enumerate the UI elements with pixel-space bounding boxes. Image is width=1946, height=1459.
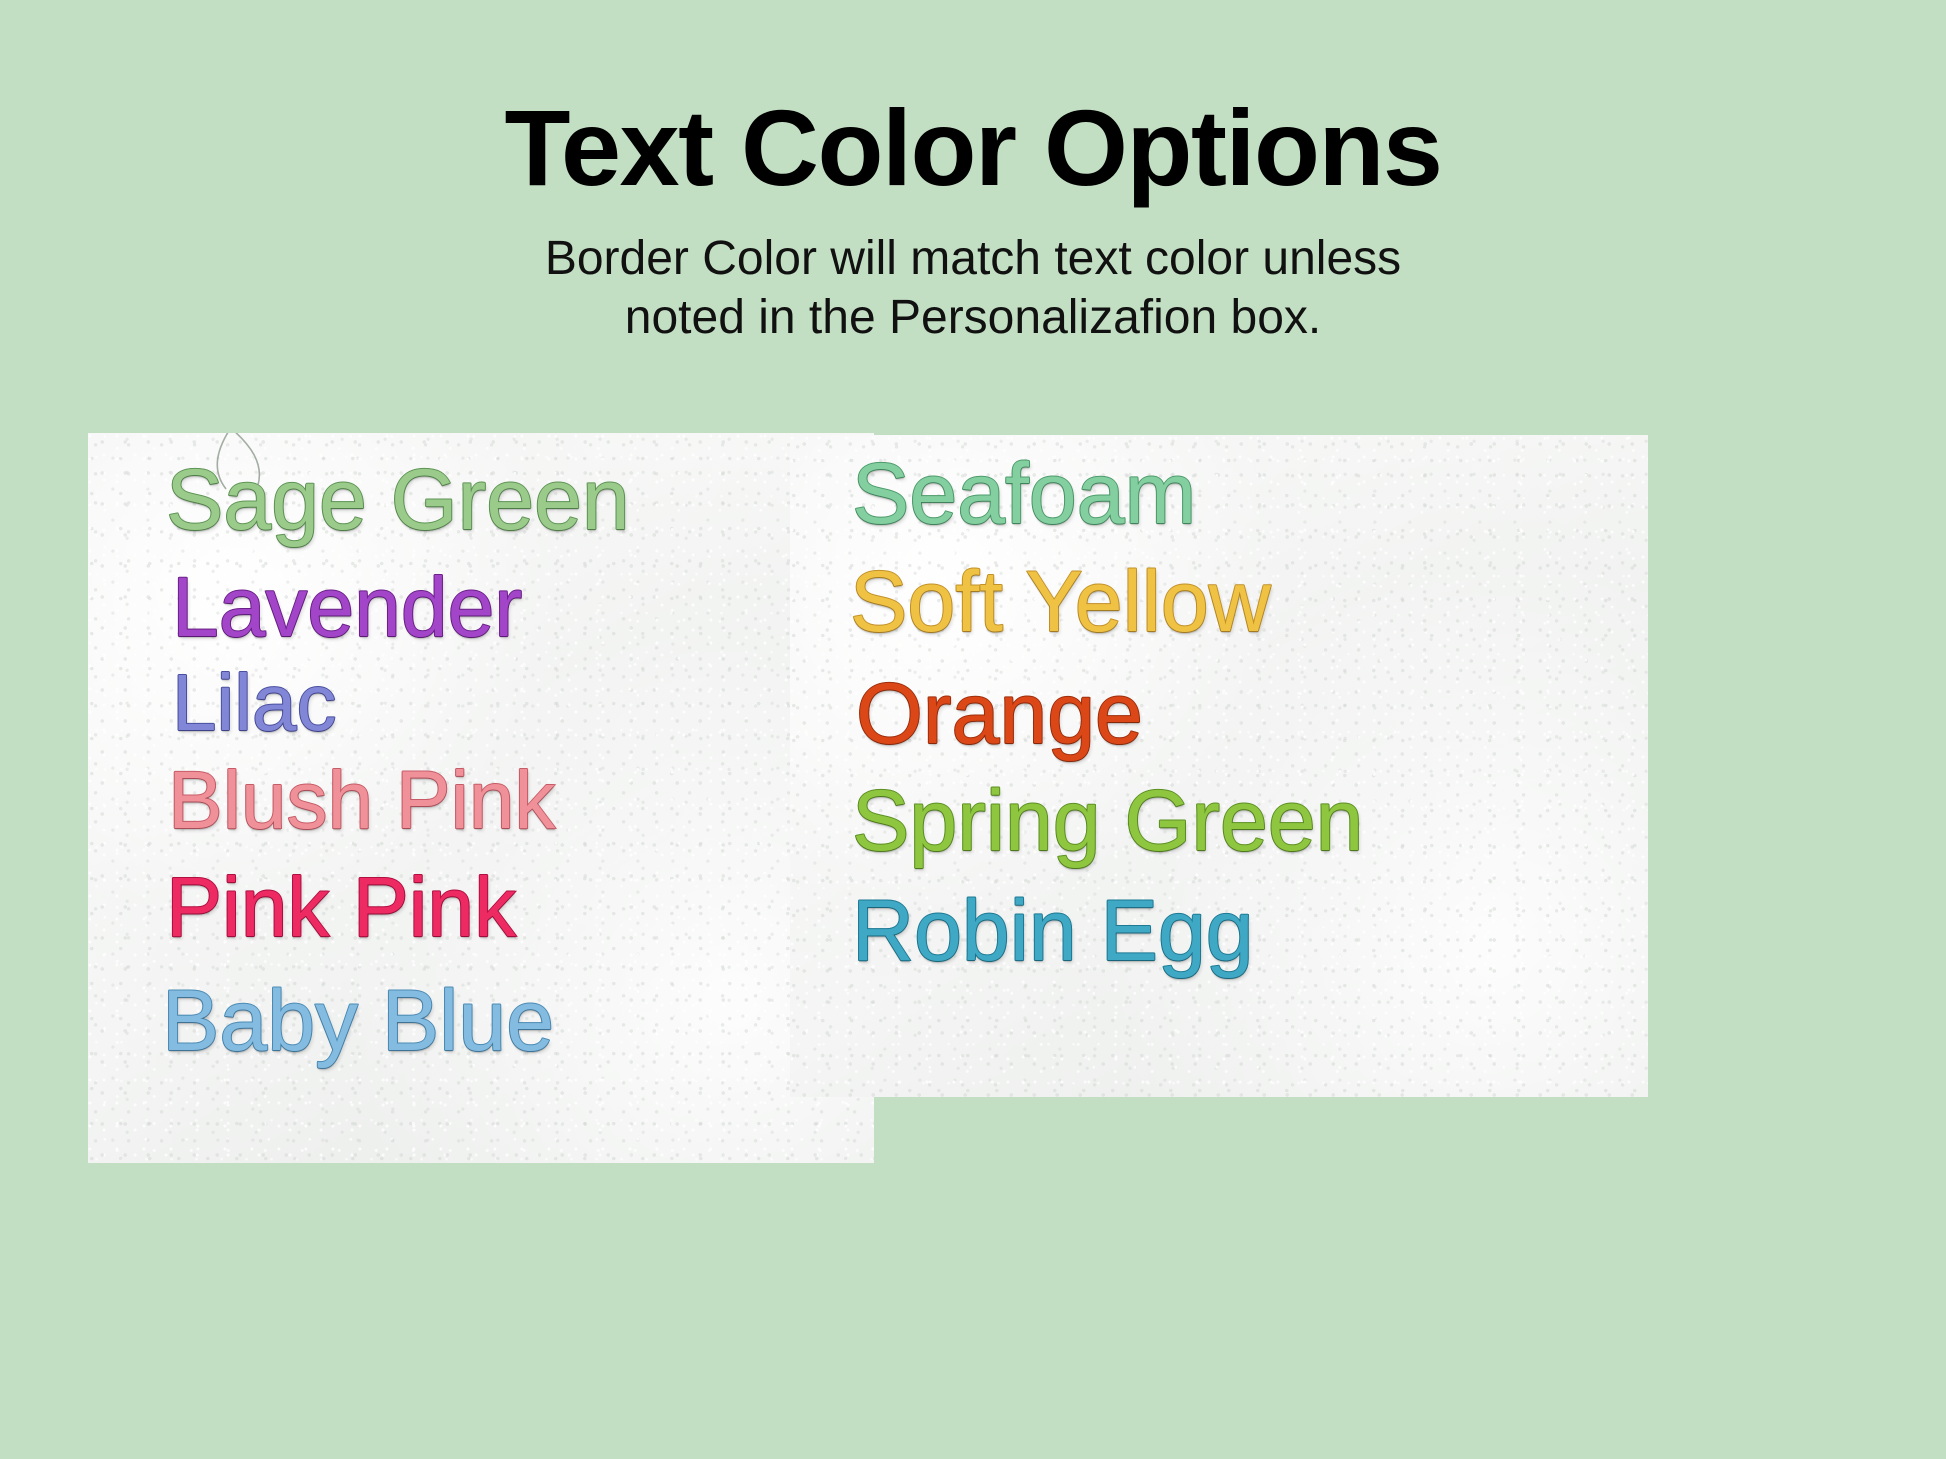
left-swatch-list: Sage GreenLavenderLilacBlush PinkPink Pi… — [88, 433, 874, 1163]
poster-canvas: Text Color Options Border Color will mat… — [0, 0, 1946, 1459]
color-swatch-label: Blush Pink — [168, 760, 555, 842]
color-swatch-label: Robin Egg — [852, 888, 1254, 974]
right-swatch-panel: SeafoamSoft YellowOrangeSpring GreenRobi… — [790, 435, 1648, 1097]
left-swatch-panel: Sage GreenLavenderLilacBlush PinkPink Pi… — [88, 433, 874, 1163]
color-swatch-label: Sage Green — [166, 457, 630, 543]
right-swatch-list: SeafoamSoft YellowOrangeSpring GreenRobi… — [790, 435, 1648, 1097]
page-subtitle-line-2: noted in the Personalizafion box. — [0, 289, 1946, 348]
color-swatch-label: Lilac — [172, 663, 337, 743]
color-swatch-label: Seafoam — [852, 451, 1196, 537]
color-swatch-label: Pink Pink — [166, 865, 516, 949]
header: Text Color Options Border Color will mat… — [0, 0, 1946, 347]
page-subtitle: Border Color will match text color unles… — [0, 204, 1946, 347]
page-subtitle-line-1: Border Color will match text color unles… — [0, 230, 1946, 289]
color-swatch-label: Soft Yellow — [850, 559, 1271, 645]
color-swatch-label: Baby Blue — [162, 978, 554, 1064]
page-title: Text Color Options — [0, 0, 1946, 204]
color-swatch-label: Spring Green — [852, 778, 1364, 864]
color-swatch-label: Lavender — [172, 565, 522, 649]
color-swatch-label: Orange — [856, 671, 1143, 757]
